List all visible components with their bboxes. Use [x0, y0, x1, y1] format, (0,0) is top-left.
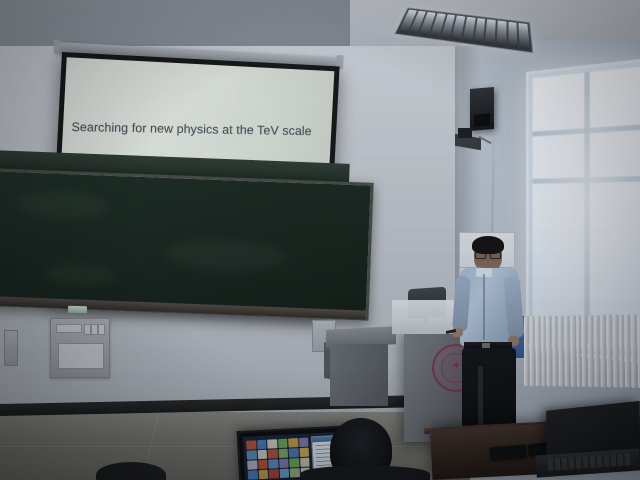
photo-scene: Searching for new physics at the TeV sca…	[0, 0, 640, 480]
wall-control-panel[interactable]	[50, 318, 110, 378]
shirt-placket	[483, 274, 485, 340]
side-table-base	[330, 344, 388, 406]
glasses-icon	[475, 251, 501, 257]
speaker-icon	[470, 87, 494, 131]
slide-title: Searching for new physics at the TeV sca…	[71, 120, 323, 138]
camera-icon	[458, 128, 472, 138]
chalk-eraser	[68, 306, 87, 314]
window-glass	[533, 67, 640, 356]
radiator-left-section	[392, 300, 458, 334]
light-switch-plate[interactable]	[4, 330, 18, 366]
audience-member-shoulders	[300, 466, 430, 480]
presenter	[452, 236, 532, 452]
radiator	[524, 314, 640, 388]
